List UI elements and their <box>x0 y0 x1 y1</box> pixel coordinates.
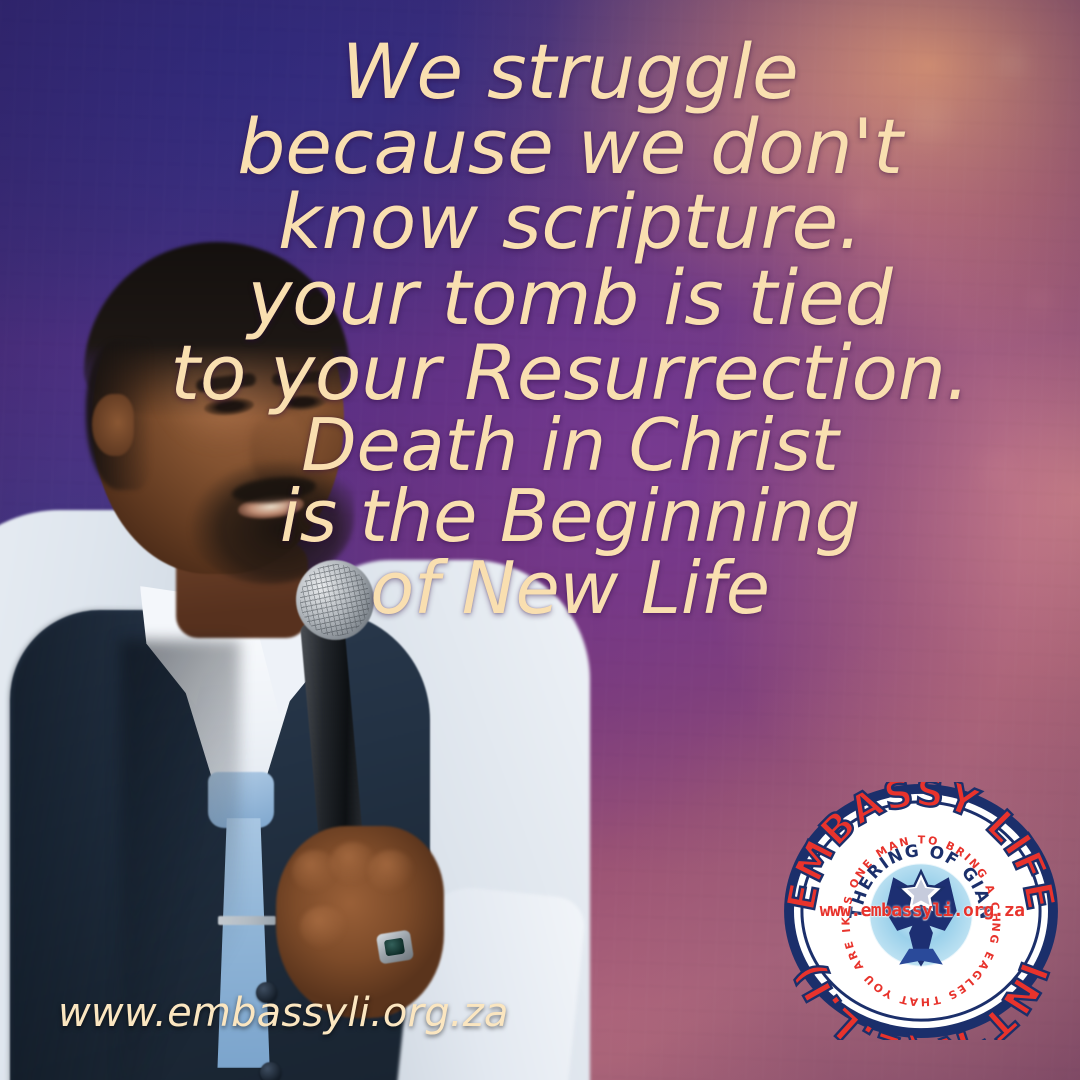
quote-line-4: your tomb is tied <box>120 260 1020 335</box>
knuckle <box>368 850 414 892</box>
quote-line-3: know scripture. <box>120 184 1020 259</box>
poster-canvas: We struggle because we don't know script… <box>0 0 1080 1080</box>
quote-line-6: Death in Christ <box>120 410 1020 481</box>
vest-button <box>260 1062 281 1080</box>
quote-line-5: to your Resurrection. <box>120 335 1020 410</box>
embassy-life-logo[interactable]: EMBASSY LIFE INT'R (E.L.I) IT TAKES ONE … <box>782 782 1060 1040</box>
knuckle <box>300 906 346 948</box>
quote-line-2: because we don't <box>120 109 1020 184</box>
website-url[interactable]: www.embassyli.org.za <box>58 990 509 1036</box>
quote-line-1: We struggle <box>120 34 1020 109</box>
logo-url-overlay[interactable]: www.embassyli.org.za <box>800 900 1044 921</box>
ring-stone <box>384 938 405 957</box>
quote-text-block: We struggle because we don't know script… <box>120 34 1020 624</box>
quote-line-8: of New Life <box>120 553 1020 624</box>
quote-line-7: is the Beginning <box>120 481 1020 552</box>
